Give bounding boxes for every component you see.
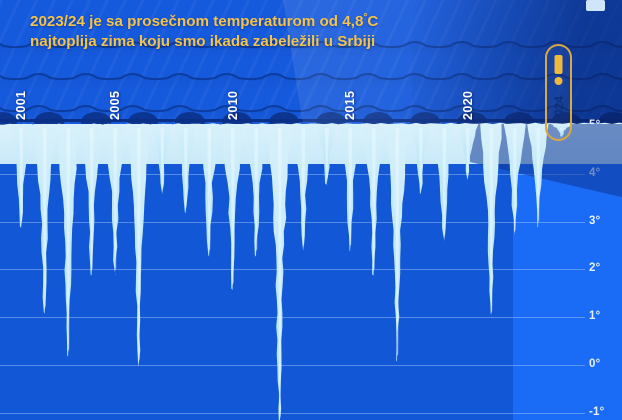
x-axis-year-2005: 2005 bbox=[108, 62, 122, 120]
icicle-highlight bbox=[513, 128, 517, 233]
x-axis-year-2020: 2020 bbox=[461, 62, 475, 120]
marker-year-label: 2024 bbox=[552, 96, 566, 123]
title-line-1: 2023/24 je sa prosečnom temperaturom od … bbox=[30, 11, 500, 32]
corner-chip bbox=[586, 0, 605, 11]
x-axis-year-2001: 2001 bbox=[14, 62, 28, 120]
x-axis-year-2010: 2010 bbox=[226, 62, 240, 120]
page-title: 2023/24 je sa prosečnom temperaturom od … bbox=[30, 11, 500, 52]
title-line-2: najtoplija zima koju smo ikada zabeležil… bbox=[30, 32, 500, 52]
infographic-canvas: 5°4°3°2°1°0°-1° 20012005201020152020 202… bbox=[0, 0, 622, 420]
title-line-1-unit: C bbox=[367, 13, 378, 30]
icicle-highlight bbox=[536, 128, 540, 223]
x-axis-year-2015: 2015 bbox=[343, 62, 357, 120]
icicle-chart bbox=[0, 118, 622, 420]
year-2024-marker[interactable]: 2024 bbox=[545, 44, 572, 141]
exclamation-icon bbox=[554, 55, 563, 85]
title-line-1-text: 2023/24 je sa prosečnom temperaturom od … bbox=[30, 13, 363, 30]
icicle-highlight bbox=[395, 128, 399, 357]
